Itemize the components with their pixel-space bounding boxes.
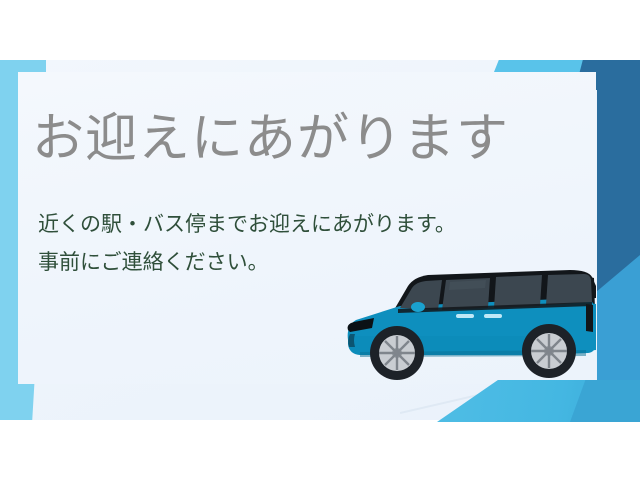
banner-headline: お迎えにあがります <box>32 96 509 171</box>
body-line-1: 近くの駅・バス停までお迎えにあがります。 <box>38 205 456 243</box>
banner-body-text: 近くの駅・バス停までお迎えにあがります。 事前にご連絡ください。 <box>38 205 456 281</box>
promo-banner: お迎えにあがります 近くの駅・バス停までお迎えにあがります。 事前にご連絡くださ… <box>0 0 640 480</box>
body-line-2: 事前にご連絡ください。 <box>38 243 456 281</box>
